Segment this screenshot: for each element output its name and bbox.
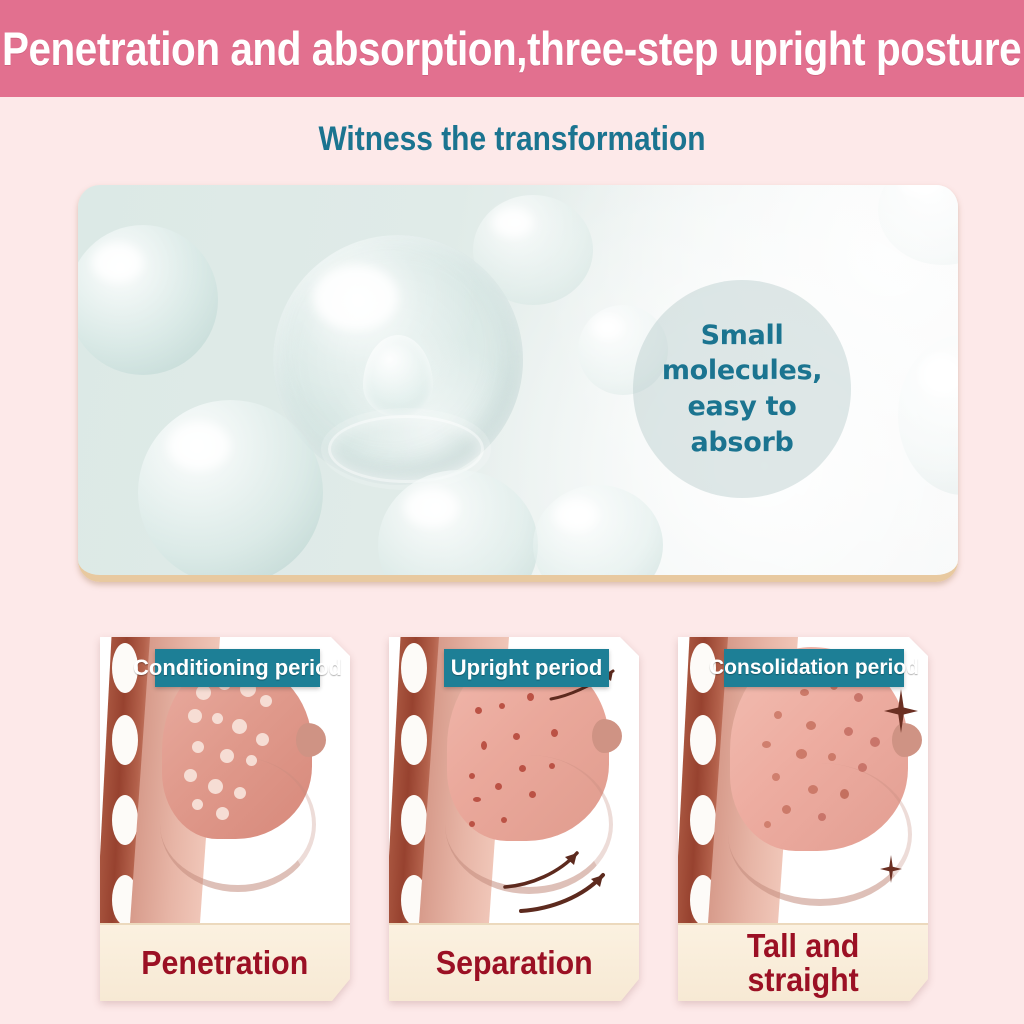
nodule-icon — [232, 719, 247, 734]
caption-line: Penetration — [141, 946, 308, 980]
header-band: Penetration and absorption,three-step up… — [0, 0, 1024, 97]
step-caption: Tall and straight — [678, 923, 928, 1001]
tissue-dot-icon — [513, 733, 520, 740]
step-illustration: Conditioning period — [100, 637, 350, 923]
tissue-dot-icon — [764, 821, 771, 828]
tissue-dot-icon — [519, 765, 526, 772]
tissue-dot-icon — [499, 703, 505, 709]
underfold-line-icon — [728, 763, 912, 906]
nodule-icon — [246, 755, 257, 766]
water-bubble-icon — [78, 225, 218, 375]
page-title: Penetration and absorption,three-step up… — [2, 21, 1021, 76]
badge-line: Small — [662, 318, 822, 354]
tissue-dot-icon — [800, 689, 809, 696]
badge-line: molecules, — [662, 353, 822, 389]
water-bubble-icon — [898, 335, 958, 495]
nodule-icon — [192, 799, 203, 810]
water-bubble-icon — [138, 400, 323, 582]
caption-line: straight — [747, 963, 859, 997]
tissue-dot-icon — [808, 785, 818, 794]
tissue-dot-icon — [495, 783, 502, 790]
nodule-icon — [188, 709, 202, 723]
vertebra-icon — [401, 643, 427, 693]
tissue-dot-icon — [549, 763, 555, 769]
vertebra-icon — [401, 795, 427, 845]
hero-bubble-panel: Small molecules, easy to absorb — [78, 185, 958, 582]
vertebra-icon — [690, 795, 716, 845]
step-caption-text: Penetration — [141, 946, 308, 980]
step-card-upright[interactable]: Upright period Separation — [389, 637, 639, 999]
badge-line: easy to — [662, 389, 822, 425]
tissue-dot-icon — [551, 729, 558, 737]
tissue-dot-icon — [469, 773, 475, 779]
nodule-icon — [220, 749, 234, 763]
tissue-dot-icon — [818, 813, 826, 821]
step-caption-text: Tall and straight — [747, 929, 859, 998]
tissue-dot-icon — [844, 727, 853, 736]
tissue-dot-icon — [475, 707, 482, 714]
nodule-icon — [196, 685, 211, 700]
tissue-dot-icon — [796, 749, 807, 759]
step-caption-text: Separation — [436, 946, 593, 980]
tissue-dot-icon — [527, 693, 534, 701]
small-molecules-badge: Small molecules, easy to absorb — [633, 280, 851, 498]
tissue-dot-icon — [529, 791, 536, 798]
water-bubble-icon — [533, 485, 663, 582]
step-illustration: Upright period — [389, 637, 639, 923]
step-cards: Conditioning period Penetration — [0, 637, 1024, 999]
tissue-dot-icon — [806, 721, 816, 730]
tissue-dot-icon — [469, 821, 475, 827]
tissue-dot-icon — [870, 737, 880, 747]
nodule-icon — [184, 769, 197, 782]
step-card-conditioning[interactable]: Conditioning period Penetration — [100, 637, 350, 999]
tissue-dot-icon — [481, 741, 487, 750]
badge-line: absorb — [662, 425, 822, 461]
tissue-dot-icon — [473, 797, 481, 802]
nipple-icon — [892, 723, 922, 757]
tissue-dot-icon — [501, 817, 507, 823]
nodule-icon — [256, 733, 269, 746]
nodule-icon — [212, 713, 223, 724]
vertebra-icon — [112, 795, 138, 845]
step-badge: Upright period — [444, 649, 609, 687]
step-caption: Penetration — [100, 923, 350, 1001]
step-badge: Consolidation period — [724, 649, 904, 687]
subtitle: Witness the transformation — [61, 120, 962, 159]
vertebra-icon — [112, 715, 138, 765]
step-caption: Separation — [389, 923, 639, 1001]
caption-line: Separation — [436, 946, 593, 980]
water-bubble-icon — [878, 185, 958, 265]
tissue-dot-icon — [840, 789, 849, 799]
nipple-icon — [592, 719, 622, 753]
tissue-dot-icon — [858, 763, 867, 772]
tissue-dot-icon — [782, 805, 791, 814]
vertebra-icon — [690, 715, 716, 765]
nodule-icon — [208, 779, 223, 794]
tissue-dot-icon — [774, 711, 782, 719]
step-illustration: Consolidation period — [678, 637, 928, 923]
lift-arrow-bottom-secondary-icon — [499, 847, 609, 893]
nipple-icon — [296, 723, 326, 757]
step-card-consolidation[interactable]: Consolidation period Tall and straight — [678, 637, 928, 999]
small-molecules-label: Small molecules, easy to absorb — [662, 318, 822, 461]
tissue-dot-icon — [762, 741, 771, 748]
nodule-icon — [234, 787, 246, 799]
step-badge: Conditioning period — [155, 649, 320, 687]
tissue-dot-icon — [772, 773, 780, 781]
tissue-dot-icon — [854, 693, 863, 702]
vertebra-icon — [401, 715, 427, 765]
nodule-icon — [260, 695, 272, 707]
tissue-dot-icon — [828, 753, 836, 761]
water-bubble-icon — [378, 470, 538, 582]
caption-line: Tall and — [747, 929, 859, 963]
nodule-icon — [192, 741, 204, 753]
nodule-icon — [216, 807, 229, 820]
